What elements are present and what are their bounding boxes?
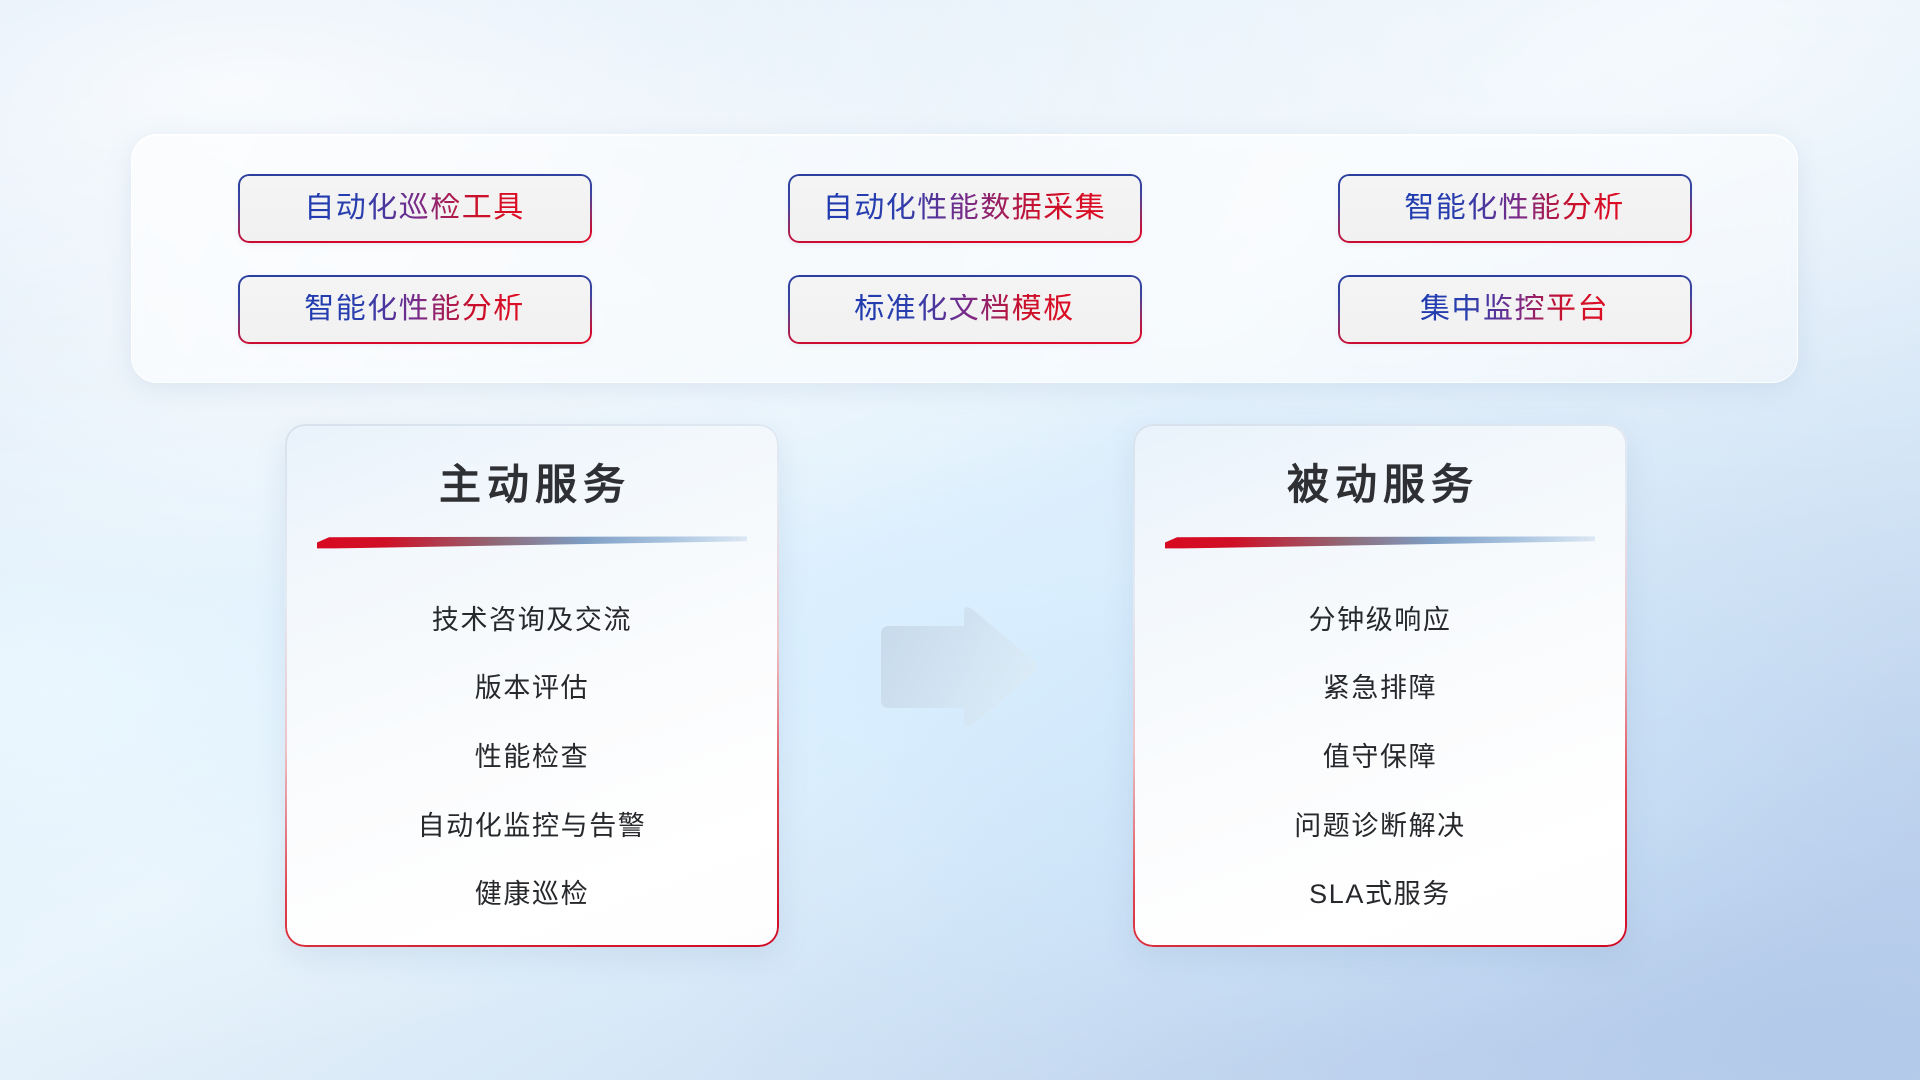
capability-tag-label: 智能化性能分析 [304, 294, 525, 324]
service-item: 版本评估 [475, 655, 589, 724]
service-item: 自动化监控与告警 [418, 792, 647, 861]
capability-tag-label: 自动化巡检工具 [304, 193, 525, 223]
capability-tag[interactable]: 自动化性能数据采集 [788, 174, 1142, 243]
capability-tag-grid: 自动化巡检工具 自动化性能数据采集 智能化性能分析 智能化性能分析 标准化文档模… [238, 174, 1692, 344]
service-item: 性能检查 [475, 723, 589, 792]
service-item-list: 分钟级响应 紧急排障 值守保障 问题诊断解决 SLA式服务 [1133, 574, 1627, 929]
service-card-title: 主动服务 [285, 460, 779, 510]
service-item: SLA式服务 [1309, 860, 1451, 929]
capability-tag[interactable]: 标准化文档模板 [788, 275, 1142, 344]
capability-tag-label: 智能化性能分析 [1404, 193, 1625, 223]
capability-tag[interactable]: 智能化性能分析 [238, 275, 592, 344]
gradient-divider-icon [317, 536, 747, 549]
capability-tag-panel: 自动化巡检工具 自动化性能数据采集 智能化性能分析 智能化性能分析 标准化文档模… [131, 134, 1798, 383]
capability-tag-label: 集中监控平台 [1420, 294, 1609, 324]
service-card-title: 被动服务 [1133, 460, 1627, 510]
service-item-list: 技术咨询及交流 版本评估 性能检查 自动化监控与告警 健康巡检 [285, 574, 779, 929]
capability-tag[interactable]: 智能化性能分析 [1338, 174, 1692, 243]
capability-tag[interactable]: 集中监控平台 [1338, 275, 1692, 344]
service-card-reactive[interactable]: 被动服务 分钟级响应 紧急排障 值守保障 问题诊断解决 SLA式服务 [1133, 424, 1627, 947]
gradient-divider-icon [1165, 536, 1595, 549]
service-item: 分钟级响应 [1309, 586, 1452, 655]
service-item: 问题诊断解决 [1294, 792, 1466, 861]
service-item: 健康巡检 [475, 860, 589, 929]
capability-tag-label: 自动化性能数据采集 [823, 193, 1107, 223]
capability-tag[interactable]: 自动化巡检工具 [238, 174, 592, 243]
capability-tag-label: 标准化文档模板 [854, 294, 1075, 324]
service-item: 紧急排障 [1323, 655, 1437, 724]
service-card-proactive[interactable]: 主动服务 技术咨询及交流 版本评估 性能检查 自动化监控与告警 健康巡检 [285, 424, 779, 947]
service-item: 值守保障 [1323, 723, 1437, 792]
arrow-right-icon [873, 604, 1040, 732]
service-item: 技术咨询及交流 [432, 586, 632, 655]
